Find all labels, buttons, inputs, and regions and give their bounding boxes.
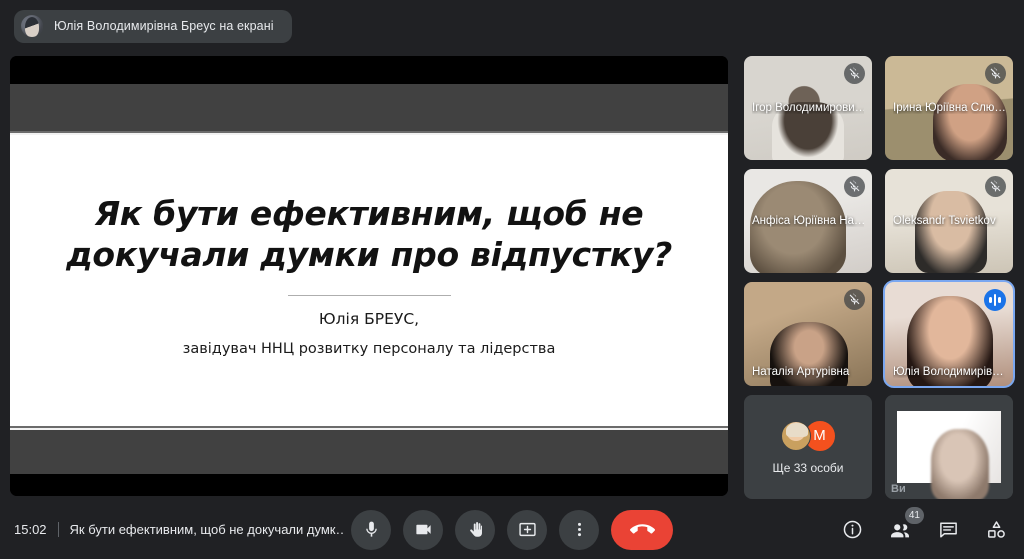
participant-name: Наталія Артурівна <box>752 366 864 378</box>
participant-tile[interactable]: Анфіса Юріївна На… <box>744 169 872 273</box>
top-bar: Юлія Володимирівна Бреус на екрані <box>0 0 1024 52</box>
bottom-bar: 15:02 Як бути ефективним, щоб не докучал… <box>0 500 1024 559</box>
participant-tile[interactable]: Oleksandr Tsvietkov <box>885 169 1013 273</box>
mic-muted-icon <box>844 63 865 84</box>
mic-muted-icon <box>844 176 865 197</box>
avatar <box>781 421 811 451</box>
meeting-app: Юлія Володимирівна Бреус на екрані Як бу… <box>0 0 1024 559</box>
raise-hand-button[interactable] <box>455 510 495 550</box>
participant-tile[interactable]: Ви <box>885 395 1013 499</box>
mic-muted-icon <box>844 289 865 310</box>
participant-tile-active-speaker[interactable]: Юлія Володимирів… <box>885 282 1013 386</box>
participant-tile-grid: Ігор Володимирови… Ірина Юріївна Слю… Ан… <box>744 56 1014 499</box>
microphone-button[interactable] <box>351 510 391 550</box>
presenter-avatar <box>21 15 43 37</box>
shared-screen-stage[interactable]: Як бути ефективним, щоб не докучали думк… <box>10 56 728 496</box>
participant-name: Юлія Володимирів… <box>893 366 1005 378</box>
speaking-indicator-icon <box>984 289 1006 311</box>
present-screen-button[interactable] <box>507 510 547 550</box>
letterbox-bottom <box>10 474 728 496</box>
self-view-label: Ви <box>891 483 906 495</box>
presenter-banner[interactable]: Юлія Володимирівна Бреус на екрані <box>14 10 292 43</box>
participant-tile[interactable]: Ігор Володимирови… <box>744 56 872 160</box>
more-participants-avatars: M <box>781 420 836 452</box>
leave-call-button[interactable] <box>611 510 673 550</box>
participant-name: Ігор Володимирови… <box>752 102 864 114</box>
slide-title: Як бути ефективним, щоб не докучали думк… <box>49 194 689 275</box>
shared-window-chrome-bottom <box>10 430 728 474</box>
participants-count-badge: 41 <box>905 507 924 524</box>
presenter-label: Юлія Володимирівна Бреус на екрані <box>54 19 274 33</box>
more-participants-tile[interactable]: M Ще 33 особи <box>744 395 872 499</box>
participant-tile[interactable]: Наталія Артурівна <box>744 282 872 386</box>
camera-button[interactable] <box>403 510 443 550</box>
presentation-slide: Як бути ефективним, щоб не докучали думк… <box>10 135 728 426</box>
slide-author: Юлія БРЕУС, <box>319 310 419 328</box>
more-options-button[interactable] <box>559 510 599 550</box>
more-participants-label: Ще 33 особи <box>773 461 844 475</box>
participant-name: Ірина Юріївна Слю… <box>893 102 1005 114</box>
shared-window-chrome-top <box>10 84 728 131</box>
slide-divider <box>288 295 451 296</box>
mic-muted-icon <box>985 176 1006 197</box>
participant-video: Ви <box>885 395 1013 499</box>
participant-tile[interactable]: Ірина Юріївна Слю… <box>885 56 1013 160</box>
chat-button[interactable] <box>936 518 960 542</box>
mic-muted-icon <box>985 63 1006 84</box>
activities-button[interactable] <box>984 518 1008 542</box>
slide-role: завідувач ННЦ розвитку персоналу та ліде… <box>183 341 556 357</box>
show-everyone-button[interactable]: 41 <box>888 518 912 542</box>
right-actions: 41 <box>840 518 1008 542</box>
meeting-details-button[interactable] <box>840 518 864 542</box>
participant-name: Oleksandr Tsvietkov <box>893 215 1005 227</box>
participant-name: Анфіса Юріївна На… <box>752 215 864 227</box>
letterbox-top <box>10 56 728 84</box>
